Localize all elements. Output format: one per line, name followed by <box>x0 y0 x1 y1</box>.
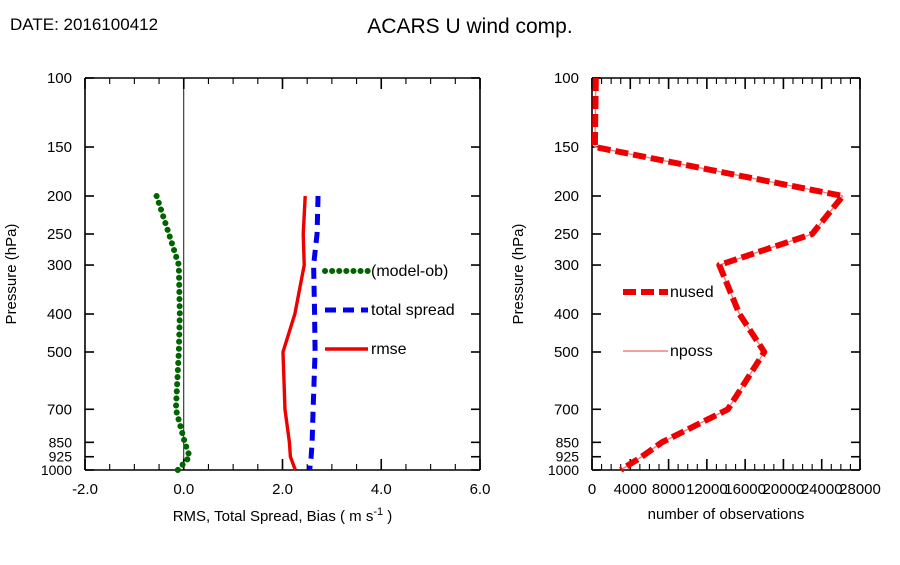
date-label: DATE: 2016100412 <box>10 15 158 34</box>
legend-item-nused: nused <box>623 284 714 301</box>
y-tick-label: 200 <box>554 188 579 205</box>
series-line-rmse <box>283 196 305 470</box>
y-tick-label: 250 <box>47 226 72 243</box>
x-tick-label: 24000 <box>801 481 843 498</box>
y-tick-label: 1000 <box>548 462 579 478</box>
y-tick-label: 400 <box>554 306 579 323</box>
x-tick-label: 16000 <box>724 481 766 498</box>
x-tick-label: -2.0 <box>72 481 98 498</box>
plot-canvas: DATE: 2016100412ACARS U wind comp.100150… <box>0 0 900 560</box>
y-tick-label: 400 <box>47 306 72 323</box>
left-y-axis-title: Pressure (hPa) <box>3 224 20 325</box>
x-tick-label: 28000 <box>839 481 881 498</box>
right-y-axis-title: Pressure (hPa) <box>510 224 527 325</box>
x-tick-label: 0.0 <box>173 481 194 498</box>
y-tick-label: 700 <box>554 401 579 418</box>
series-line-nused <box>595 78 843 470</box>
legend-label: (model-ob) <box>371 263 448 280</box>
x-tick-label: 20000 <box>763 481 805 498</box>
y-tick-label: 150 <box>47 139 72 156</box>
right-panel: 1001502002503004005007008509251000040008… <box>510 70 881 523</box>
legend-item-nposs: nposs <box>623 343 713 360</box>
series-line--model-ob- <box>157 196 190 470</box>
x-tick-label: 4.0 <box>371 481 392 498</box>
legend-item-total-spread: total spread <box>325 302 455 319</box>
legend-label: rmse <box>371 341 407 358</box>
page-title: ACARS U wind comp. <box>367 15 572 38</box>
y-tick-label: 200 <box>47 188 72 205</box>
x-tick-label: 0 <box>588 481 596 498</box>
y-tick-label: 250 <box>554 226 579 243</box>
x-tick-label: 2.0 <box>272 481 293 498</box>
x-tick-label: 8000 <box>652 481 685 498</box>
chart-figure: DATE: 2016100412ACARS U wind comp.100150… <box>0 0 900 560</box>
legend-label: nused <box>670 284 714 301</box>
right-x-axis-title: number of observations <box>648 506 805 523</box>
legend-item--model-ob-: (model-ob) <box>325 263 448 280</box>
y-tick-label: 700 <box>47 401 72 418</box>
x-axis-title-main: RMS, Total Spread, Bias ( m s <box>173 508 374 525</box>
y-tick-label: 500 <box>554 344 579 361</box>
y-tick-label: 100 <box>554 70 579 87</box>
x-axis-title-exponent: -1 <box>373 506 383 518</box>
series-line-total-spread <box>310 196 318 470</box>
legend-item-rmse: rmse <box>325 341 407 358</box>
y-tick-label: 300 <box>554 257 579 274</box>
legend-label: nposs <box>670 343 713 360</box>
y-tick-label: 300 <box>47 257 72 274</box>
y-tick-label: 100 <box>47 70 72 87</box>
x-tick-label: 12000 <box>686 481 728 498</box>
x-axis-title-tail: ) <box>383 508 392 525</box>
series-line-nposs <box>595 78 843 470</box>
x-tick-label: 4000 <box>614 481 647 498</box>
x-tick-label: 6.0 <box>470 481 491 498</box>
y-tick-label: 150 <box>554 139 579 156</box>
y-tick-label: 1000 <box>41 462 72 478</box>
left-panel: 1001502002503004005007008509251000-2.00.… <box>3 70 490 525</box>
y-tick-label: 500 <box>47 344 72 361</box>
left-x-axis-title: RMS, Total Spread, Bias ( m s-1 ) <box>173 506 393 525</box>
legend-label: total spread <box>371 302 455 319</box>
